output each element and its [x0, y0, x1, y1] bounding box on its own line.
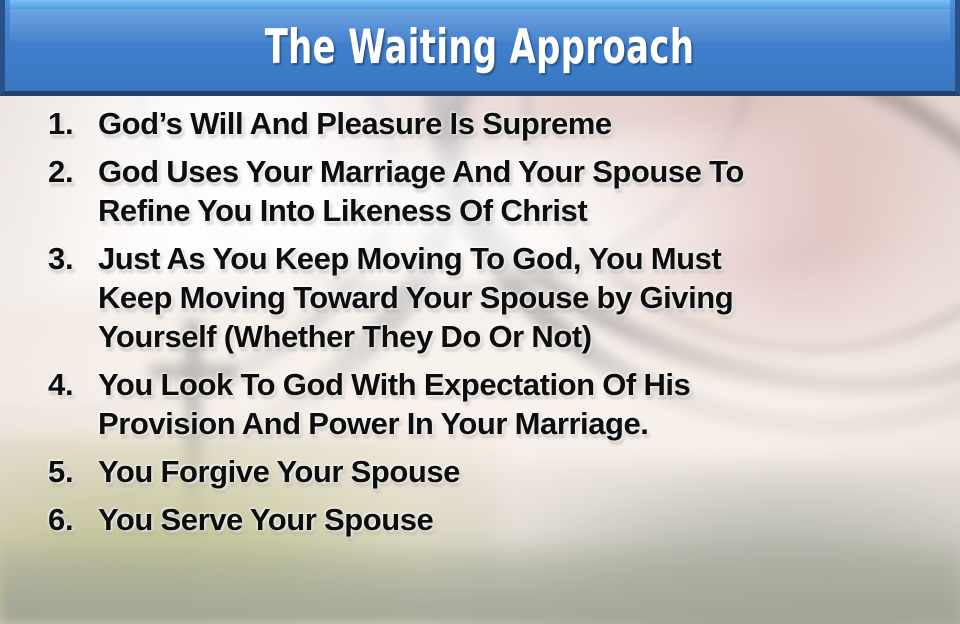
list-item: 4. You Look To God With Expectation Of H… [0, 365, 960, 443]
list-item-line: Refine You Into Likeness Of Christ [98, 191, 944, 230]
title-banner: The Waiting Approach [0, 0, 960, 96]
list-item: 6. You Serve Your Spouse [0, 500, 960, 539]
slide-title: The Waiting Approach [265, 20, 695, 75]
list-item-line: Just As You Keep Moving To God, You Must [98, 239, 944, 278]
list-item: 3. Just As You Keep Moving To God, You M… [0, 239, 960, 356]
list-item-number: 1. [48, 104, 98, 143]
list-item-number: 4. [48, 365, 98, 404]
list-item-text: Just As You Keep Moving To God, You Must… [98, 239, 960, 356]
list-item-line: God’s Will And Pleasure Is Supreme [98, 104, 944, 143]
list-item-text: God Uses Your Marriage And Your Spouse T… [98, 152, 960, 230]
list-item-text: You Look To God With Expectation Of His … [98, 365, 960, 443]
presentation-slide: The Waiting Approach 1. God’s Will And P… [0, 0, 960, 624]
list-item-line: Yourself (Whether They Do Or Not) [98, 317, 944, 356]
list-item-line: Keep Moving Toward Your Spouse by Giving [98, 278, 944, 317]
list-item: 5. You Forgive Your Spouse [0, 452, 960, 491]
list-item-line: You Look To God With Expectation Of His [98, 365, 944, 404]
list-item: 1. God’s Will And Pleasure Is Supreme [0, 104, 960, 143]
list-item-text: You Forgive Your Spouse [98, 452, 960, 491]
list-item-text: God’s Will And Pleasure Is Supreme [98, 104, 960, 143]
list-item-number: 5. [48, 452, 98, 491]
list-item-line: You Forgive Your Spouse [98, 452, 944, 491]
list-item-text: You Serve Your Spouse [98, 500, 960, 539]
banner-top-highlight-strip [10, 0, 950, 9]
numbered-list: 1. God’s Will And Pleasure Is Supreme 2.… [0, 104, 960, 548]
list-item-line: Provision And Power In Your Marriage. [98, 404, 944, 443]
list-item-number: 6. [48, 500, 98, 539]
list-item-number: 2. [48, 152, 98, 191]
list-item-number: 3. [48, 239, 98, 278]
list-item-line: You Serve Your Spouse [98, 500, 944, 539]
list-item: 2. God Uses Your Marriage And Your Spous… [0, 152, 960, 230]
list-item-line: God Uses Your Marriage And Your Spouse T… [98, 152, 944, 191]
